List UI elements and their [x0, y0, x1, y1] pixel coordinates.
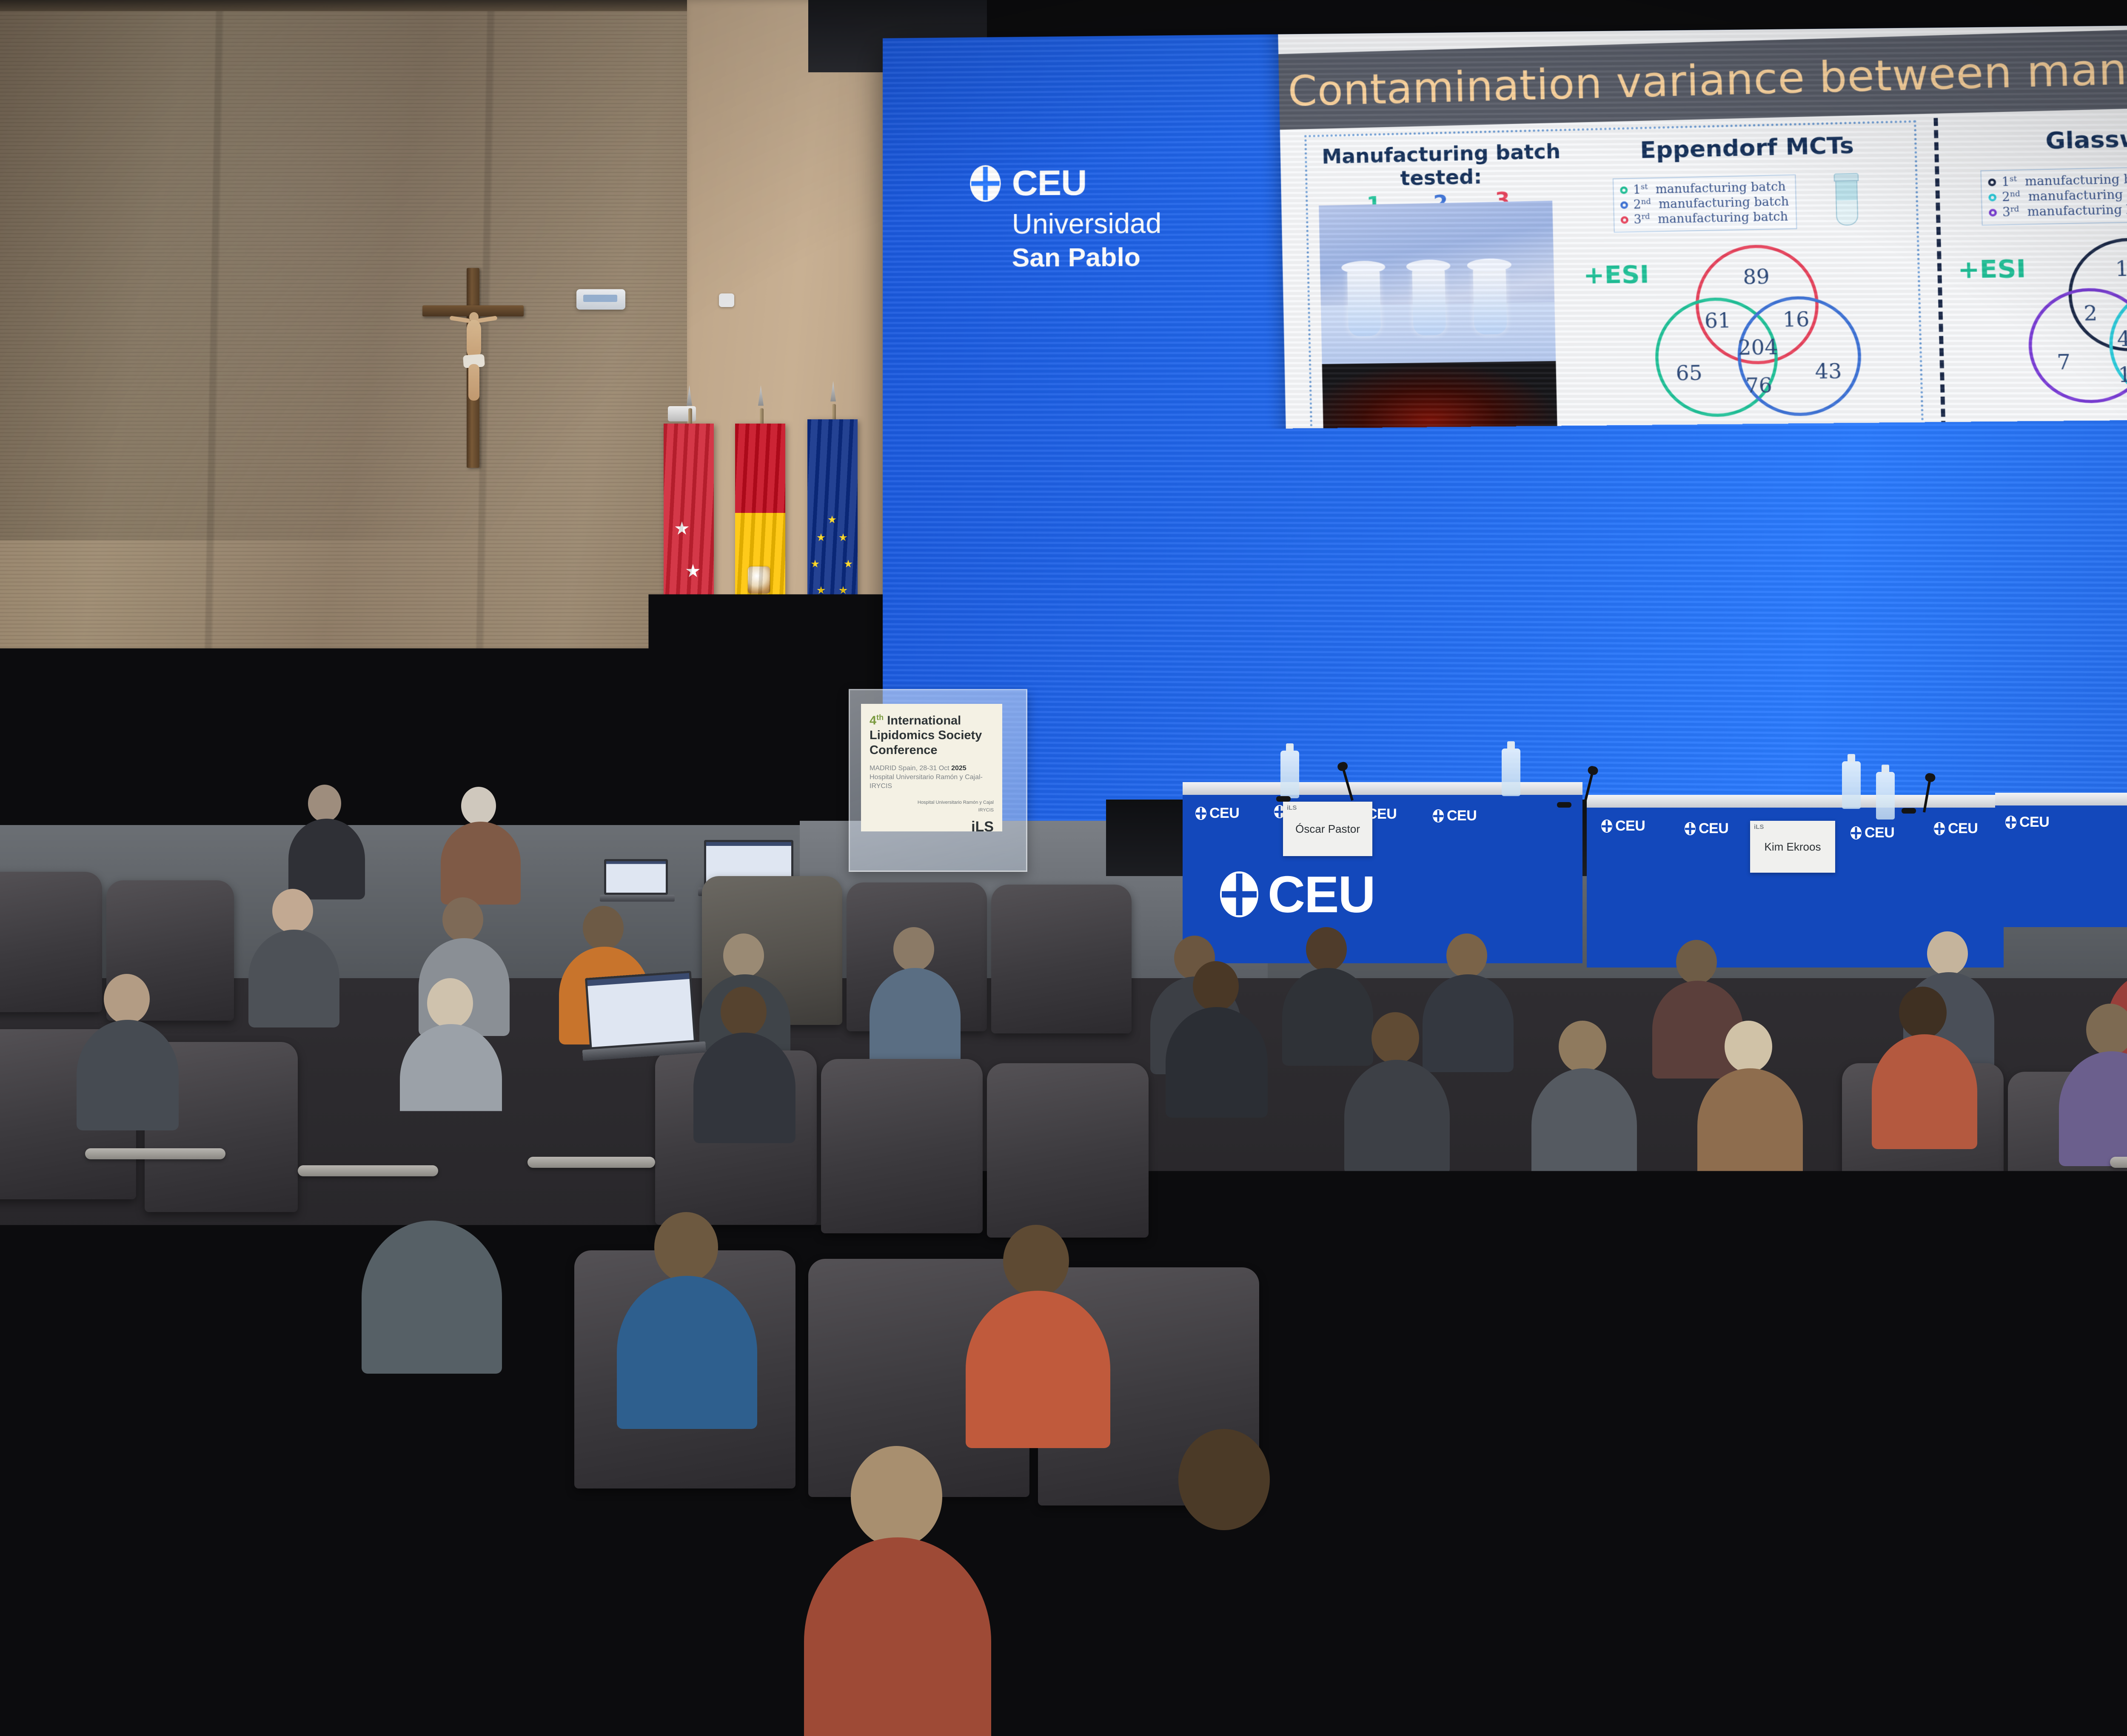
- venn-glassware-pos-esi: 16 2 0 48 7 10 2: [2021, 236, 2127, 424]
- legend-eppendorf: 1st manufacturing batch 2nd manufacturin…: [1613, 174, 1797, 233]
- slide-citation: Canez, C. R.; Li, L. Anal Chem. 2024, 96…: [1322, 700, 1709, 717]
- photo-microcentrifuge-tubes: [1319, 201, 1556, 379]
- microphone-base: [1557, 802, 1571, 808]
- seat: [987, 1063, 1149, 1238]
- venn-glassware-neg-esi: 0 1 0 7 1 4 0: [2027, 453, 2127, 639]
- panel-table-left: CEU CEU CEU CEU CEU: [1183, 793, 1582, 963]
- water-bottle: [1842, 761, 1861, 809]
- venn-value: 18: [1709, 521, 1736, 545]
- venn-value: 50: [1820, 573, 1848, 598]
- tube-icon-eppendorf: [1834, 173, 1860, 226]
- microphone-base: [1902, 808, 1916, 814]
- venn-value: 52: [1750, 587, 1777, 611]
- esi-negative-label-glassware: -ESI: [1968, 469, 2026, 498]
- ceu-mini-label: CEU: [1615, 818, 1645, 834]
- microphone-base: [1276, 796, 1291, 802]
- venn-value: 2: [2084, 301, 2098, 325]
- ceu-globe-icon: [970, 165, 1001, 202]
- venn-value: 61: [1748, 478, 1775, 502]
- panel-eppendorf-mcts: Eppendorf MCTs 1st manufacturing batch 2…: [1588, 131, 1920, 683]
- venn-value: 89: [1743, 265, 1770, 289]
- podium-title-line1: International: [887, 714, 961, 728]
- podium-host: Hospital Universitario Ramón y Cajal-IRY…: [870, 774, 983, 790]
- venn-value: 48: [2117, 326, 2127, 351]
- venn-value: 76: [1745, 373, 1773, 398]
- venn-value: 65: [1676, 361, 1703, 385]
- venn-eppendorf-pos-esi: 89 61 16 204 65 76 43: [1645, 243, 1872, 432]
- venn-value: 1: [2062, 566, 2076, 590]
- armrest: [85, 1148, 225, 1159]
- podium-conference-sign: 4th International Lipidomics Society Con…: [861, 704, 1002, 831]
- ceu-sanpablo-label: San Pablo: [1012, 242, 1162, 273]
- screenshot-root: CEU Universidad San Pablo CEU Unive San …: [0, 0, 2127, 1736]
- nameplate-logo: iLS: [1287, 804, 1297, 811]
- motion-sensor-icon: [719, 293, 734, 307]
- nameplate-logo: iLS: [1754, 823, 1764, 831]
- seat: [991, 885, 1132, 1033]
- laptop-screen: [585, 971, 696, 1050]
- water-bottle: [1502, 748, 1520, 796]
- podium-title-line2: Lipidomics Society: [870, 729, 982, 742]
- armrest: [527, 1157, 655, 1168]
- ceu-mini-label: CEU: [1447, 808, 1477, 824]
- esi-positive-label-glassware: +ESI: [1957, 254, 2026, 285]
- panel-table-far-right: CEU: [1995, 804, 2127, 927]
- panel-title-glassware: Glassware: [1966, 122, 2127, 157]
- seat: [1480, 1540, 1787, 1736]
- ceu-mini-label: CEU: [2019, 814, 2049, 831]
- nameplate-kim-ekroos: iLS Kim Ekroos: [1750, 821, 1835, 873]
- ceu-mini-label: CEU: [1699, 820, 1728, 837]
- venn-value: 46: [1680, 574, 1708, 598]
- emergency-light-icon: [576, 289, 625, 310]
- venn-value: 64: [1749, 549, 1776, 572]
- batch-heading-line2: tested:: [1400, 165, 1482, 190]
- glasses-icon: [948, 577, 984, 585]
- panel-divider-1: [1933, 118, 1952, 684]
- laptop-base: [600, 895, 675, 902]
- seat: [0, 1233, 170, 1471]
- crucifix-icon: [419, 268, 525, 468]
- venn-eppendorf-neg-esi: 61 18 2 64 46 52 50: [1650, 457, 1878, 644]
- laptop-screen: [604, 859, 668, 895]
- water-bottle: [1876, 772, 1895, 820]
- podium-title-line3: Conference: [870, 743, 938, 757]
- seat: [476, 1531, 783, 1736]
- esi-positive-label-eppendorf: +ESI: [1583, 260, 1649, 290]
- armrest: [2110, 1157, 2127, 1168]
- safelock-caption: Eppendorf "Safe-Lock" MCTs: [1328, 455, 1578, 477]
- podium-title-number: 4: [870, 714, 876, 728]
- nameplate-oscar-pastor: iLS Óscar Pastor: [1283, 802, 1372, 856]
- wall-outlet-icon: [464, 672, 494, 689]
- ceu-mini-label: CEU: [1948, 820, 1978, 837]
- ceu-table-wordmark: CEU: [1268, 865, 1375, 924]
- legend-glassware: 1st manufacturing batch 2nd manufacturin…: [1980, 166, 2127, 225]
- esi-negative-label-eppendorf: -ESI: [1593, 471, 1649, 500]
- venn-value: 10: [2118, 362, 2127, 387]
- venn-value: 7: [2056, 350, 2071, 374]
- slide-title: Contamination variance between manufactu…: [1288, 32, 2127, 116]
- water-bottle: [1280, 751, 1299, 798]
- seat: [0, 872, 102, 1012]
- venn-value: 16: [1782, 307, 1810, 331]
- screen-brand-left: CEU Universidad San Pablo: [970, 164, 1161, 273]
- podium: 4th International Lipidomics Society Con…: [849, 689, 1027, 872]
- venn-value: 16: [2115, 256, 2127, 281]
- logo-ils: iLS: [870, 819, 994, 831]
- ceu-wordmark: CEU: [1012, 167, 1087, 199]
- venn-value: 2: [1794, 521, 1808, 545]
- nameplate-name: Kim Ekroos: [1765, 840, 1821, 854]
- podium-location: MADRID Spain, 28-31 Oct: [870, 765, 951, 772]
- panel-glassware: Glassware 1st manufacturing batch 2nd: [1966, 122, 2127, 685]
- ceu-mini-label: CEU: [1209, 805, 1239, 822]
- ceu-universidad-label: Universidad: [1012, 207, 1162, 240]
- slide-body: Manufacturing batch tested: 1 2 3: [1280, 98, 2127, 742]
- venn-value: 61: [1704, 308, 1731, 333]
- venn-value: 43: [1815, 359, 1842, 383]
- photo-dark-residue: [1322, 361, 1558, 446]
- seat: [821, 1059, 983, 1233]
- logo-hospital-ramon-y-cajal: Hospital Universitario Ramón y Cajal: [918, 800, 994, 805]
- slide-surface: Contamination variance between manufactu…: [1277, 20, 2127, 796]
- ceu-mini-label: CEU: [1865, 825, 1894, 841]
- venn-value: 1: [2089, 517, 2104, 541]
- logo-irycis: IRYCIS: [978, 808, 994, 813]
- nameplate-name: Óscar Pastor: [1295, 822, 1360, 836]
- venn-value: 204: [1738, 335, 1778, 359]
- ceu-globe-icon: [1220, 871, 1258, 917]
